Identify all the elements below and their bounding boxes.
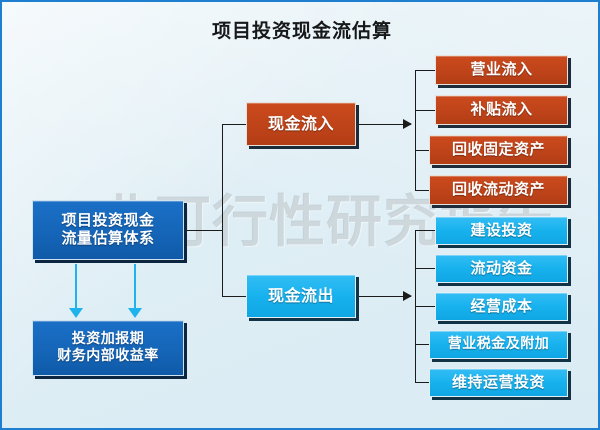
indicator-label-line2: 财务内部收益率	[33, 348, 183, 365]
inflow-child-label-3: 回收流动资产	[452, 181, 545, 199]
inflow-child-label-2: 回收固定资产	[452, 141, 545, 159]
branch-cash-outflow-box[interactable]: 现金流出	[246, 274, 356, 318]
branch-outflow-line	[222, 296, 246, 297]
outflow-child-box-3[interactable]: 营业税金及附加	[429, 330, 568, 359]
diagram-canvas: 业可行性研究报告 项目投资现金流估算 项目投资现金 流量估算体系 投资加报期 财…	[0, 0, 600, 430]
outflow-child-stub-2	[415, 306, 435, 307]
root-stub-line	[184, 230, 222, 231]
root-label-line2: 流量估算体系	[33, 230, 183, 248]
inflow-child-stub-1	[415, 110, 435, 111]
branch-inflow-line	[222, 124, 246, 125]
root-to-indicator-arrow-line-1	[75, 264, 77, 310]
outflow-child-label-2: 经营成本	[470, 298, 532, 316]
outflow-child-stub-1	[415, 268, 435, 269]
branch-cash-inflow-box[interactable]: 现金流入	[246, 102, 356, 146]
branch-cash-inflow-label: 现金流入	[268, 115, 334, 134]
outflow-child-box-4[interactable]: 维持运营投资	[429, 368, 568, 397]
outflow-child-box-2[interactable]: 经营成本	[435, 292, 568, 321]
outflow-child-box-1[interactable]: 流动资金	[435, 254, 568, 283]
outflow-child-box-0[interactable]: 建设投资	[435, 216, 568, 245]
inflow-children-bracket-spine	[415, 70, 416, 190]
inflow-child-label-0: 营业流入	[470, 61, 532, 79]
root-to-indicator-arrow-line-2	[134, 264, 136, 310]
root-to-indicator-arrow-head-1	[69, 308, 83, 318]
indicator-box[interactable]: 投资加报期 财务内部收益率	[32, 320, 184, 376]
outflow-child-label-3: 营业税金及附加	[448, 336, 550, 353]
branch-trunk-line	[222, 124, 223, 296]
outflow-child-label-1: 流动资金	[470, 260, 532, 278]
inflow-child-box-0[interactable]: 营业流入	[435, 55, 568, 85]
root-box[interactable]: 项目投资现金 流量估算体系	[32, 200, 184, 260]
inflow-to-children-arrowhead	[403, 119, 412, 129]
inflow-child-box-3[interactable]: 回收流动资产	[429, 175, 568, 205]
page-title: 项目投资现金流估算	[2, 16, 600, 43]
indicator-label-line1: 投资加报期	[33, 331, 183, 348]
inflow-child-box-2[interactable]: 回收固定资产	[429, 135, 568, 165]
inflow-child-box-1[interactable]: 补贴流入	[435, 95, 568, 125]
branch-cash-outflow-label: 现金流出	[268, 287, 334, 306]
outflow-child-label-0: 建设投资	[470, 222, 532, 240]
outflow-child-label-4: 维持运营投资	[452, 374, 545, 392]
root-to-indicator-arrow-head-2	[128, 308, 142, 318]
outflow-to-children-arrowhead	[403, 291, 412, 301]
inflow-child-label-1: 补贴流入	[470, 101, 532, 119]
outflow-child-stub-0	[415, 230, 435, 231]
root-label-line1: 项目投资现金	[33, 212, 183, 230]
inflow-child-stub-0	[415, 70, 435, 71]
